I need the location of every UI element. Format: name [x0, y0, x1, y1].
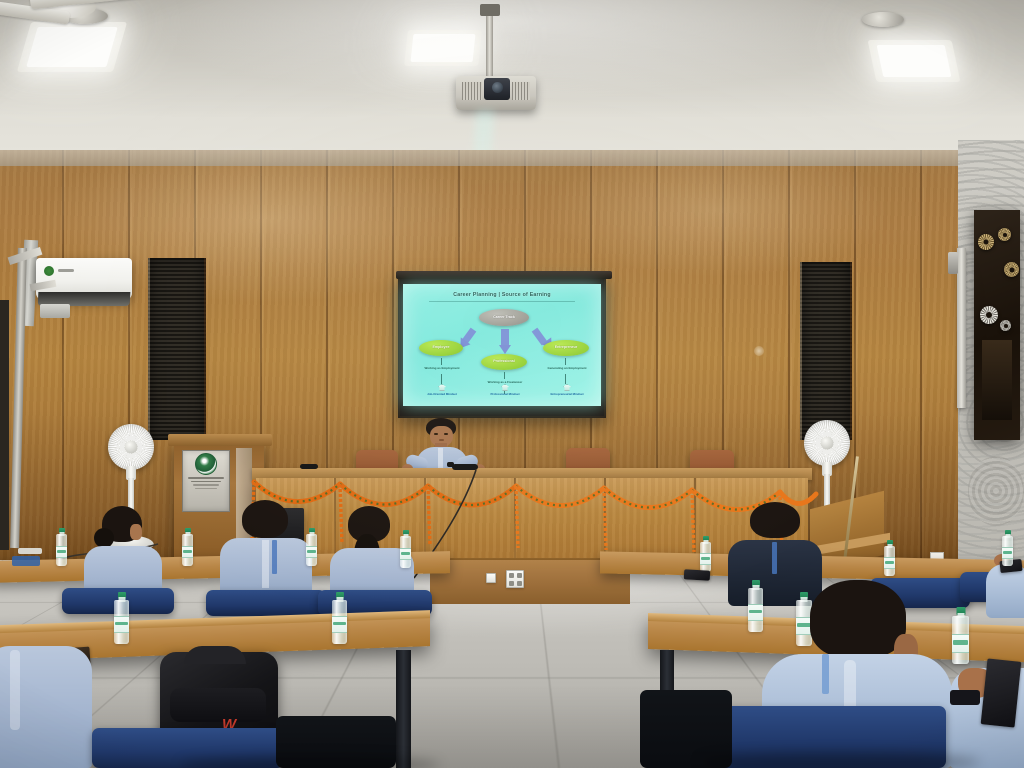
fan-cage [804, 420, 850, 466]
slide-mindset-professional-label: Professional Mindset [490, 392, 519, 396]
lanyard [822, 654, 829, 694]
institution-emblem-icon [195, 453, 217, 475]
slide-mindset-entrepreneurial-label: Entrepreneurial Mindset [550, 392, 583, 396]
gear-icon [978, 234, 994, 250]
upward-arrow-icon [501, 384, 510, 391]
water-bottle[interactable] [700, 542, 711, 572]
water-bottle[interactable] [332, 600, 347, 644]
projector-lens [492, 82, 503, 93]
shirt-placket [262, 540, 269, 588]
slide-title: Career Planning | Source of Earning [403, 292, 601, 298]
lanyard [272, 540, 277, 574]
lanyard [772, 542, 777, 574]
desk-item-paper[interactable] [18, 548, 42, 554]
gear-wall-art [974, 210, 1020, 440]
slide-content: Career Planning | Source of Earning Care… [403, 284, 601, 406]
projector [452, 4, 538, 116]
water-bottle[interactable] [1002, 536, 1013, 566]
projection-screen: Career Planning | Source of Earning Care… [398, 276, 606, 418]
wall-fixture [948, 252, 958, 274]
gear-icon [998, 228, 1011, 241]
microphone-capsule [447, 462, 454, 467]
gear-icon [1004, 262, 1019, 277]
person-hair [810, 580, 906, 658]
seminar-hall-photo: Career Planning | Source of Earning Care… [0, 0, 1024, 768]
person-cheek [130, 524, 142, 540]
projector-ceiling-plate [480, 4, 500, 16]
audience-chair [206, 590, 326, 616]
slide-title-rule [429, 301, 575, 302]
water-bottle[interactable] [182, 534, 193, 566]
water-bottle[interactable] [56, 534, 67, 566]
slide-node-root: Career Track [479, 309, 529, 326]
smoke-detector-icon [862, 12, 904, 27]
water-bottle[interactable] [114, 600, 129, 644]
audience-person-5 [0, 636, 100, 768]
audience-person-2 [218, 500, 316, 600]
ceiling-light-3 [877, 45, 952, 77]
gear-icon [980, 306, 998, 324]
ceiling-fan-top-left [0, 0, 160, 74]
mobile-phone[interactable] [981, 658, 1022, 727]
ac-brand-logo [44, 266, 54, 276]
slide-mindset-entrepreneurial: Entrepreneurial Mindset [529, 384, 601, 396]
slide-node-employee: Employee [419, 340, 463, 356]
table-leg [396, 650, 411, 768]
ceiling-cove [0, 150, 1024, 166]
audience-person-1 [78, 506, 168, 600]
desk-item-folder[interactable] [12, 556, 40, 566]
stone-feature-wall [958, 140, 1024, 610]
water-bottle[interactable] [400, 536, 411, 568]
louver-vent-left [148, 258, 206, 440]
wall-cable [0, 300, 9, 550]
wristwatch [950, 690, 980, 705]
hair-bun [94, 528, 114, 548]
slide-mindset-job-label: Job-Oriented Mindset [427, 392, 457, 396]
slide-node-entrepreneur: Entrepreneur [543, 340, 589, 356]
wall-scuff [754, 346, 764, 356]
upward-arrow-icon [438, 384, 447, 391]
mobile-phone[interactable] [684, 569, 710, 580]
arrow-center-head [499, 345, 511, 354]
podium-top [168, 434, 272, 446]
table-microphone [300, 464, 318, 469]
fan-cage [108, 424, 154, 470]
slide-leaf-employee: Working as Employment [405, 366, 479, 370]
louver-vent-right [800, 262, 852, 440]
ac-mount-block [40, 304, 70, 318]
stone-medallion [968, 456, 1024, 526]
slide-node-professional: Professional [481, 354, 527, 370]
slide-leaf-entrepreneur: Generating an Employment [529, 366, 601, 370]
gear-icon [1000, 320, 1011, 331]
wall-trim-strip [957, 248, 966, 408]
screen-roller-housing [396, 271, 612, 279]
water-bottle[interactable] [884, 546, 895, 576]
water-bottle[interactable] [306, 534, 317, 566]
upward-arrow-icon [563, 384, 572, 391]
projector-body [456, 76, 536, 110]
